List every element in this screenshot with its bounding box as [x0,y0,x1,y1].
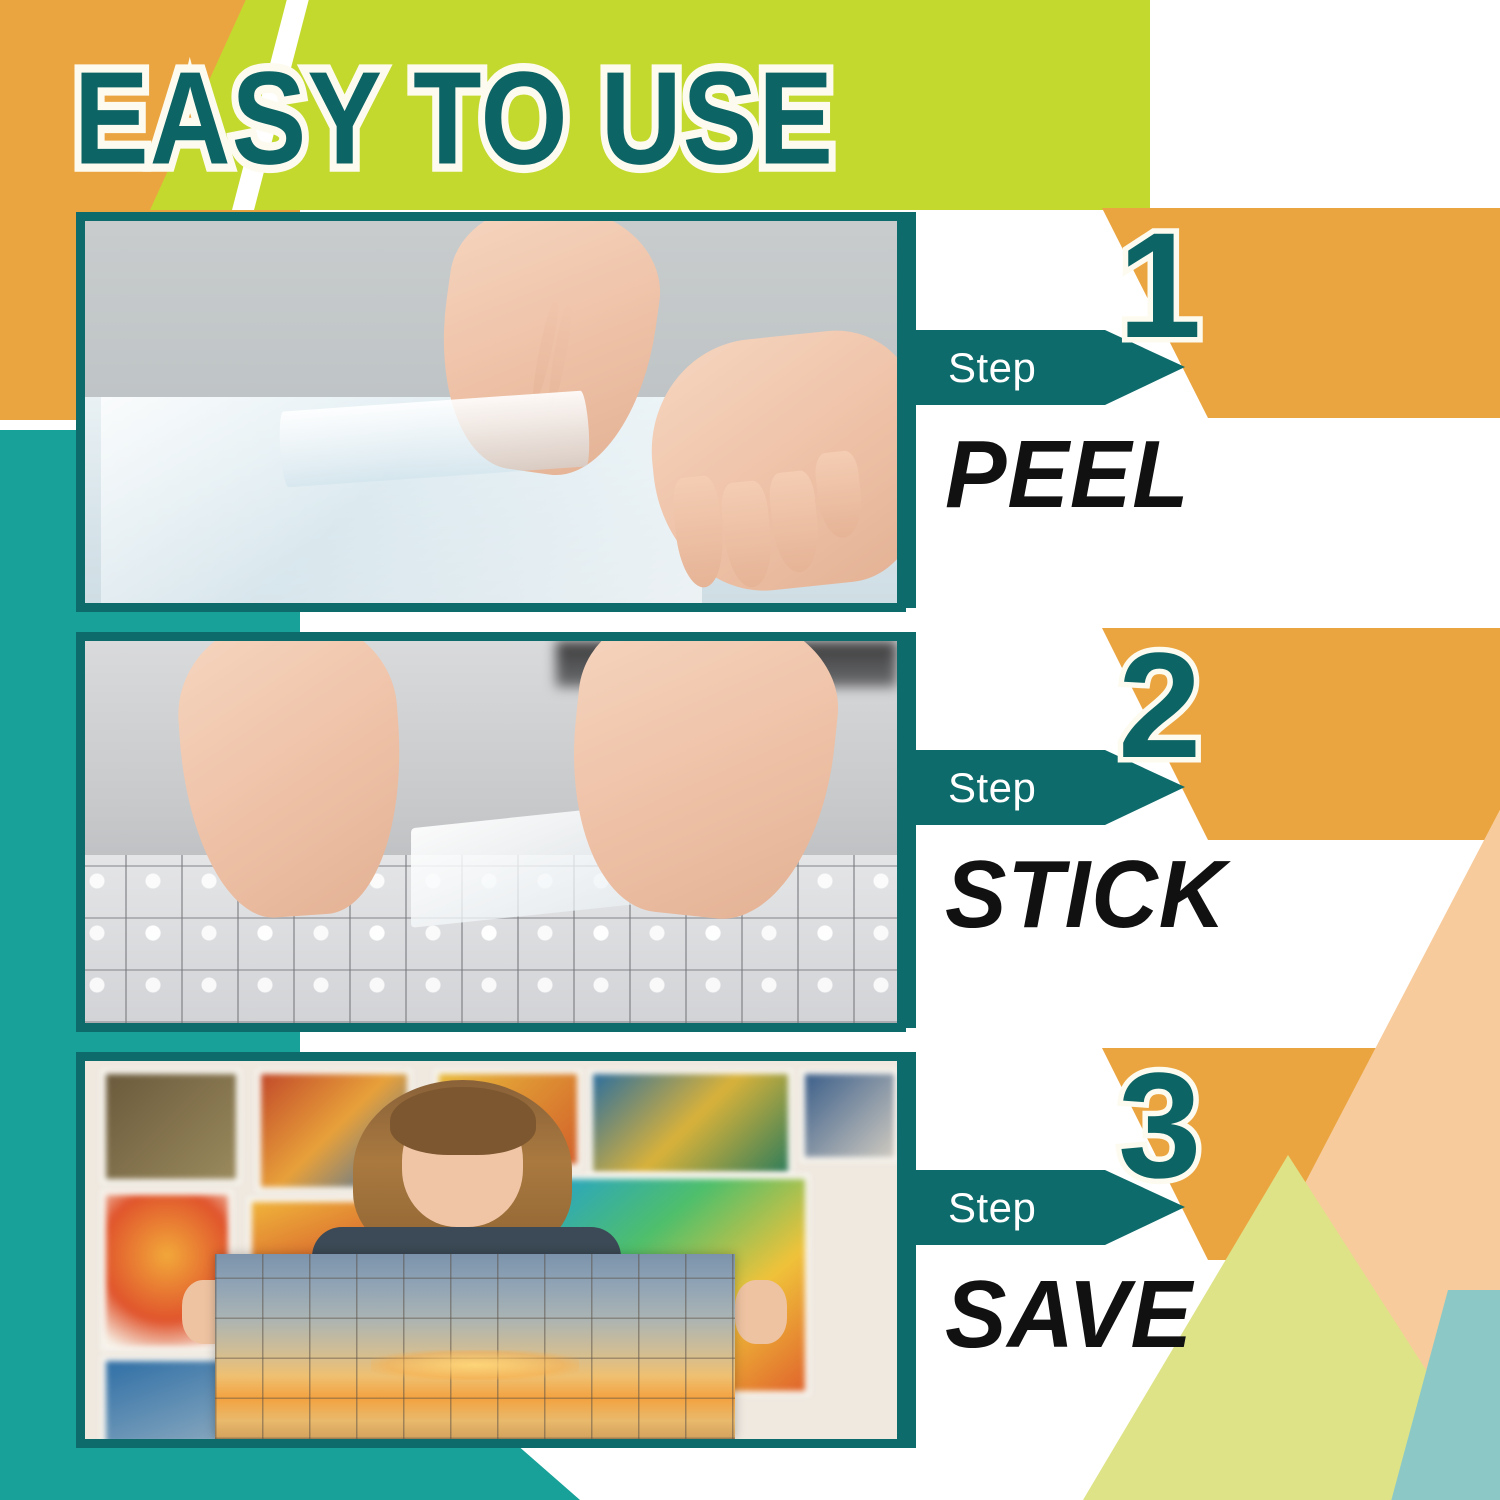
step-vertical-rule [905,212,916,608]
step-photo-save [76,1052,906,1448]
step-action-stick: STICK [945,847,1226,943]
step-vertical-rule [905,632,916,1028]
step-photo-peel [76,212,906,612]
step-photo-stick [76,632,906,1032]
page-title: EASY TO USE [74,42,834,194]
step-action-save: SAVE [945,1267,1193,1363]
step-number-2: 2 [1118,630,1201,780]
step-number-1: 1 [1118,210,1201,360]
step-number-3: 3 [1118,1050,1201,1200]
infographic-canvas: EASY TO USE [0,0,1500,1500]
step-vertical-rule [905,1052,916,1448]
step-tag-label-3: Step [948,1187,1036,1229]
step-tag-label-1: Step [948,347,1036,389]
step-tag-label-2: Step [948,767,1036,809]
step-action-peel: PEEL [945,427,1190,523]
